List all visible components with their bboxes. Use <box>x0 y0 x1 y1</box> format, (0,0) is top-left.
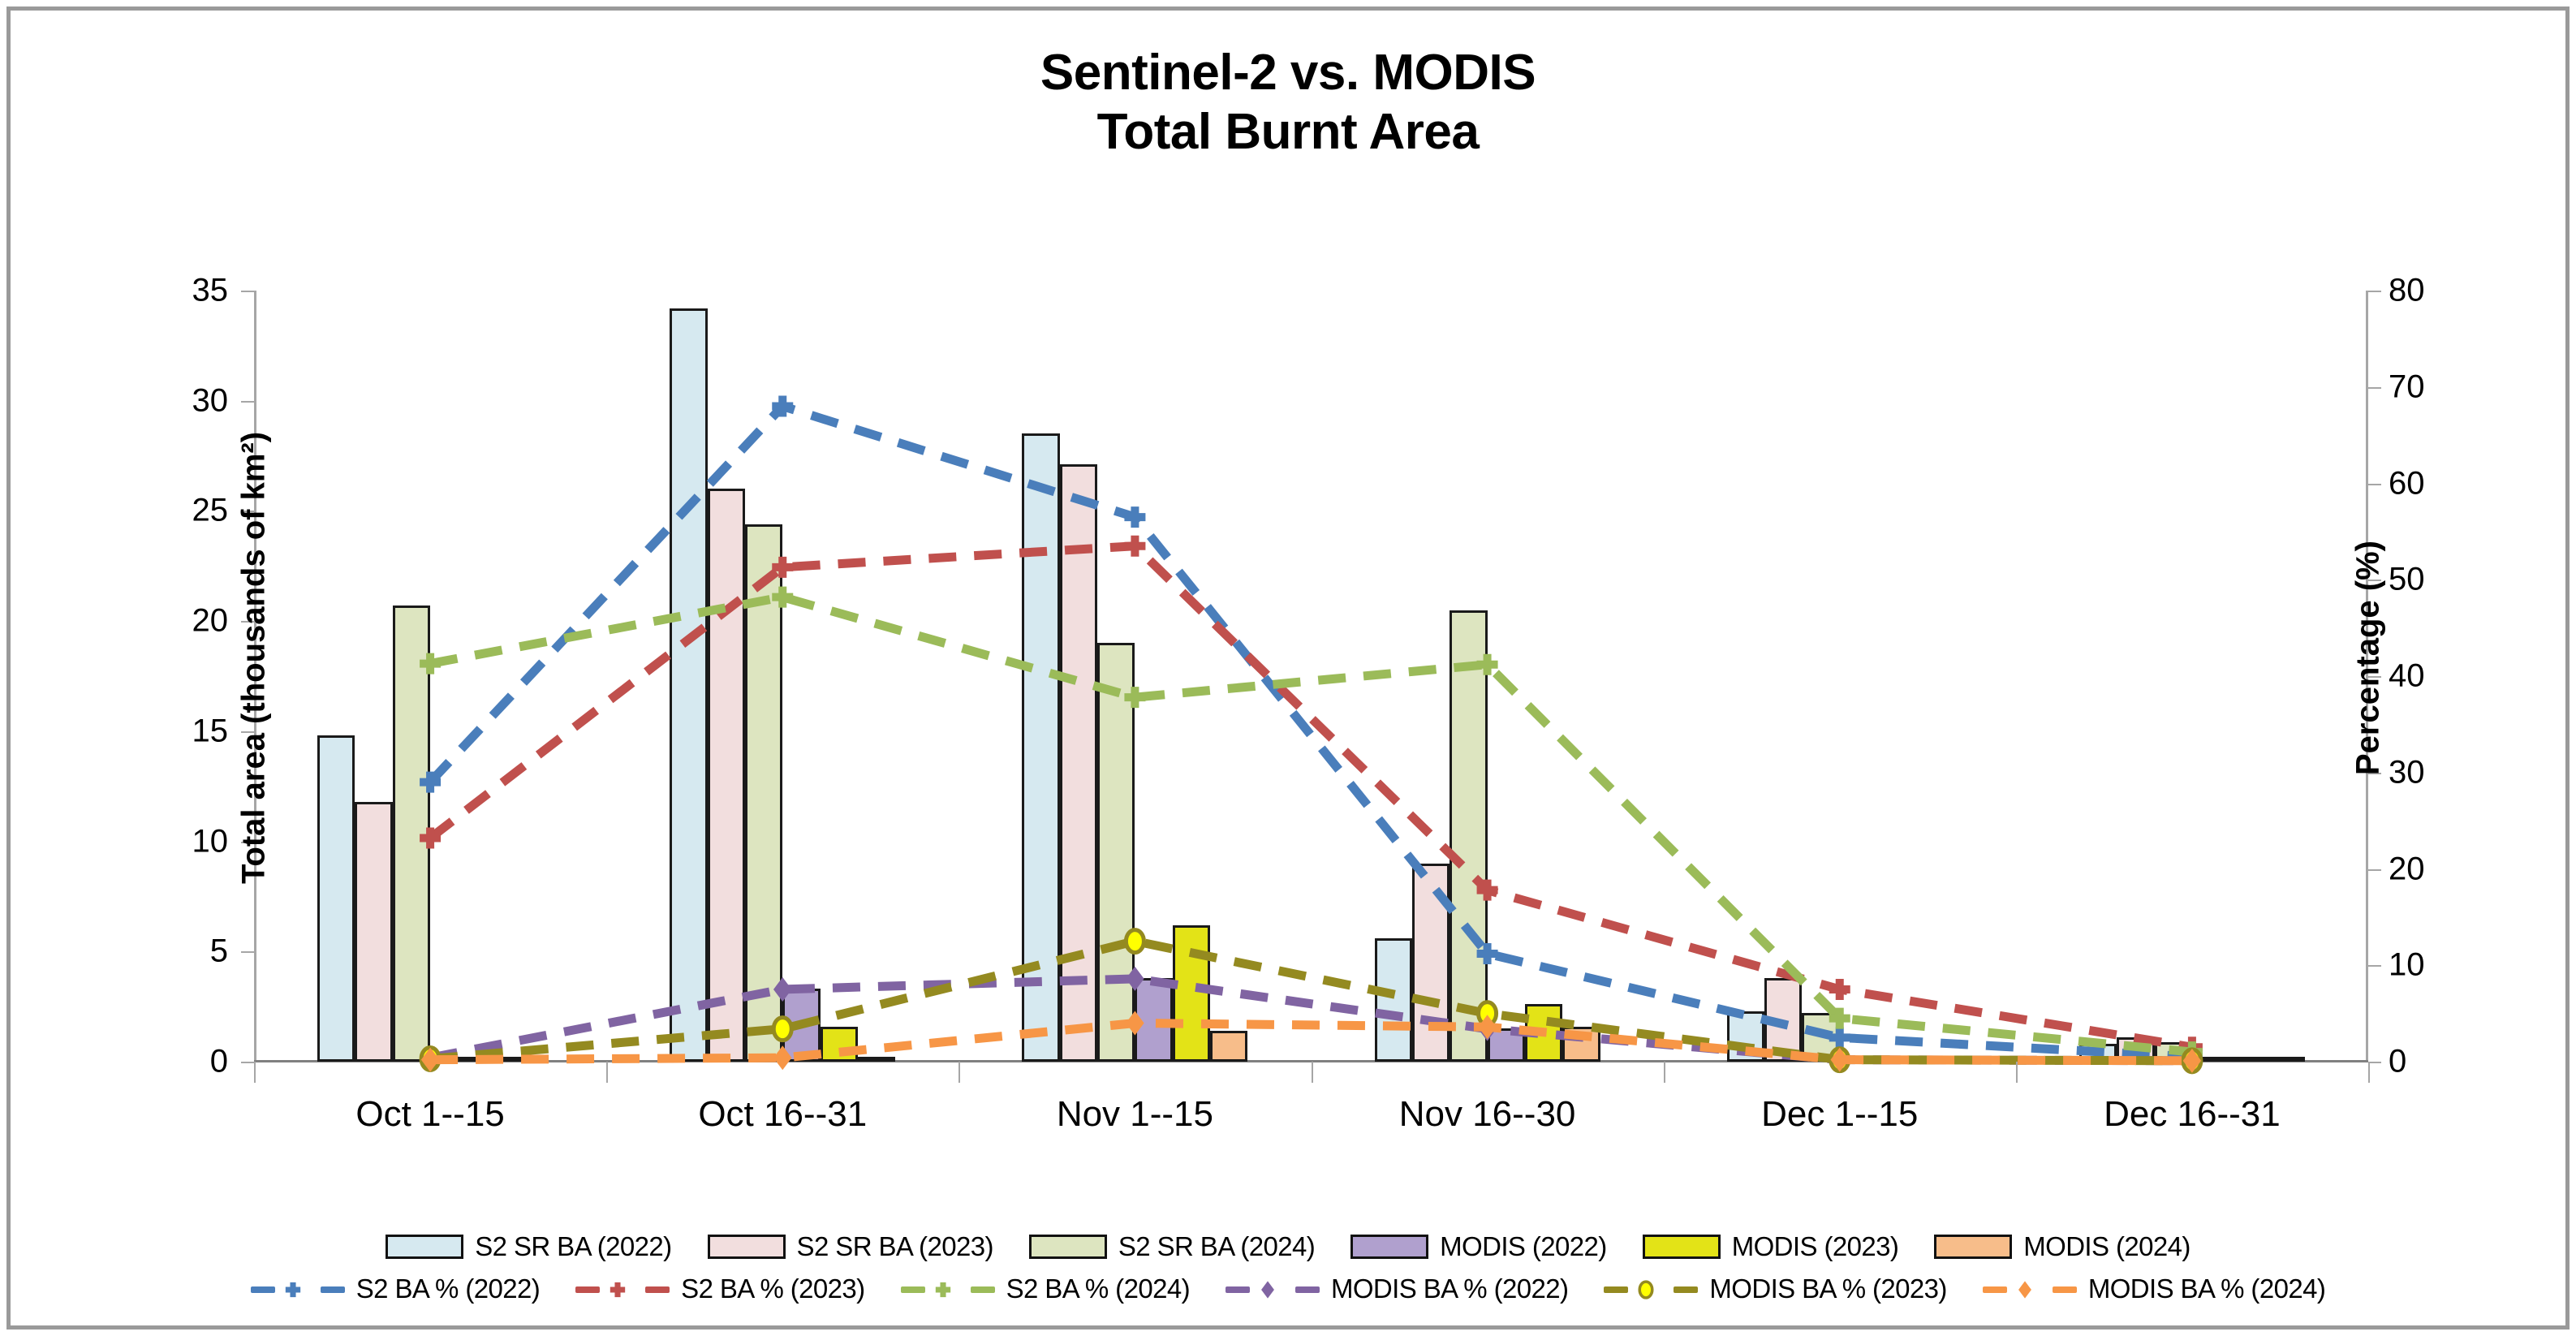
legend-label: S2 BA % (2023) <box>681 1274 864 1304</box>
data-point-marker <box>420 653 441 674</box>
legend-item[interactable]: MODIS BA % (2022) <box>1226 1274 1568 1304</box>
left-tick-label: 10 <box>106 823 228 860</box>
legend-line-swatch <box>1983 1277 2078 1301</box>
data-point-marker <box>1124 687 1145 708</box>
line-series-path <box>430 546 2192 1048</box>
category-separator <box>958 1062 960 1083</box>
legend-marker <box>1258 1280 1277 1299</box>
chart-title-line1: Sentinel-2 vs. MODIS <box>11 43 2565 102</box>
legend-row-lines: S2 BA % (2022)S2 BA % (2023)S2 BA % (202… <box>11 1274 2565 1304</box>
left-tick-label: 35 <box>106 273 228 309</box>
legend-row-bars: S2 SR BA (2022)S2 SR BA (2023)S2 SR BA (… <box>11 1231 2565 1262</box>
data-point-marker <box>2018 1281 2031 1298</box>
data-point-marker <box>1829 1027 1850 1048</box>
category-separator <box>1664 1062 1665 1083</box>
right-tick-label: 10 <box>2389 947 2510 984</box>
data-point-marker <box>935 1282 950 1297</box>
legend-label: MODIS (2024) <box>2023 1231 2190 1262</box>
category-label: Dec 1--15 <box>1761 1094 1918 1135</box>
data-point-marker <box>773 1045 792 1070</box>
legend-label: MODIS BA % (2023) <box>1709 1274 1946 1304</box>
left-tick-label: 0 <box>106 1044 228 1080</box>
legend-label: MODIS BA % (2024) <box>2088 1274 2325 1304</box>
right-tick-label: 40 <box>2389 658 2510 695</box>
legend-swatch <box>1350 1235 1428 1259</box>
legend-line-swatch <box>1604 1277 1699 1301</box>
line-series-path <box>430 407 2192 1058</box>
line-series-overlay <box>254 291 2368 1062</box>
legend-label: S2 BA % (2024) <box>1006 1274 1190 1304</box>
category-label: Nov 1--15 <box>1057 1094 1213 1135</box>
category-label: Oct 16--31 <box>698 1094 867 1135</box>
category-label: Nov 16--30 <box>1399 1094 1576 1135</box>
left-tick-label: 20 <box>106 603 228 640</box>
legend-swatch <box>1029 1235 1107 1259</box>
category-label: Oct 1--15 <box>355 1094 504 1135</box>
left-tick-label: 15 <box>106 713 228 749</box>
right-tick-label: 20 <box>2389 851 2510 887</box>
legend-item[interactable]: S2 SR BA (2022) <box>386 1231 671 1262</box>
left-tick-label: 30 <box>106 382 228 419</box>
legend-swatch <box>708 1235 786 1259</box>
legend-line-swatch <box>901 1277 997 1301</box>
legend-item[interactable]: S2 BA % (2024) <box>901 1274 1190 1304</box>
right-tick-label: 50 <box>2389 562 2510 598</box>
data-point-marker <box>1829 979 1850 1000</box>
data-point-marker <box>1640 1282 1653 1298</box>
data-point-marker <box>772 587 793 608</box>
data-point-marker <box>773 977 792 1002</box>
legend-marker <box>2015 1280 2035 1299</box>
data-point-marker <box>773 1018 791 1041</box>
chart-title: Sentinel-2 vs. MODIS Total Burnt Area <box>11 43 2565 162</box>
category-separator <box>2368 1062 2370 1083</box>
category-separator <box>1312 1062 1313 1083</box>
legend-label: S2 SR BA (2022) <box>475 1231 671 1262</box>
data-point-marker <box>1124 536 1145 557</box>
legend-item[interactable]: S2 BA % (2023) <box>575 1274 864 1304</box>
legend-label: MODIS (2022) <box>1440 1231 1607 1262</box>
line-series-path <box>430 979 2192 1061</box>
left-tick-label: 25 <box>106 493 228 529</box>
category-separator <box>254 1062 256 1083</box>
category-label: Dec 16--31 <box>2104 1094 2281 1135</box>
data-point-marker <box>1477 654 1498 675</box>
right-tick-label: 60 <box>2389 465 2510 502</box>
legend-marker <box>1636 1280 1656 1299</box>
legend-label: S2 BA % (2022) <box>356 1274 540 1304</box>
legend-line-swatch <box>251 1277 347 1301</box>
legend-marker <box>608 1280 627 1299</box>
legend-item[interactable]: S2 BA % (2022) <box>251 1274 540 1304</box>
legend-item[interactable]: MODIS (2023) <box>1643 1231 1899 1262</box>
legend-marker <box>933 1280 953 1299</box>
legend-item[interactable]: MODIS BA % (2023) <box>1604 1274 1946 1304</box>
right-tick-label: 30 <box>2389 754 2510 791</box>
legend-label: MODIS (2023) <box>1732 1231 1899 1262</box>
right-tick-label: 0 <box>2389 1044 2510 1080</box>
data-point-marker <box>1124 506 1145 528</box>
category-separator <box>2016 1062 2018 1083</box>
data-point-marker <box>1126 967 1144 991</box>
data-point-marker <box>1126 930 1144 953</box>
legend-label: MODIS BA % (2022) <box>1331 1274 1568 1304</box>
data-point-marker <box>610 1282 625 1297</box>
legend-item[interactable]: S2 SR BA (2023) <box>708 1231 993 1262</box>
legend-item[interactable]: MODIS (2022) <box>1350 1231 1607 1262</box>
data-point-marker <box>1126 1011 1144 1036</box>
figure-frame: Sentinel-2 vs. MODIS Total Burnt Area 05… <box>6 6 2570 1330</box>
legend-line-swatch <box>575 1277 671 1301</box>
data-point-marker <box>286 1282 300 1297</box>
legend-item[interactable]: MODIS (2024) <box>1934 1231 2190 1262</box>
legend-label: S2 SR BA (2024) <box>1118 1231 1315 1262</box>
legend-item[interactable]: MODIS BA % (2024) <box>1983 1274 2325 1304</box>
data-point-marker <box>1261 1281 1274 1298</box>
chart-legend: S2 SR BA (2022)S2 SR BA (2023)S2 SR BA (… <box>11 1231 2565 1304</box>
right-tick-label: 70 <box>2389 368 2510 405</box>
legend-swatch <box>386 1235 463 1259</box>
legend-swatch <box>1643 1235 1721 1259</box>
legend-label: S2 SR BA (2023) <box>797 1231 993 1262</box>
line-series-path <box>430 597 2192 1053</box>
legend-line-swatch <box>1226 1277 1321 1301</box>
chart-title-line2: Total Burnt Area <box>11 102 2565 162</box>
plot-area: 05101520253035 01020304050607080 Total a… <box>254 291 2368 1062</box>
category-separator <box>606 1062 608 1083</box>
chart-screenshot: Sentinel-2 vs. MODIS Total Burnt Area 05… <box>0 0 2576 1336</box>
legend-swatch <box>1934 1235 2012 1259</box>
legend-item[interactable]: S2 SR BA (2024) <box>1029 1231 1315 1262</box>
right-tick-label: 80 <box>2389 273 2510 309</box>
legend-marker <box>283 1280 303 1299</box>
line-series-path <box>430 1024 2192 1061</box>
left-tick-label: 5 <box>106 933 228 970</box>
